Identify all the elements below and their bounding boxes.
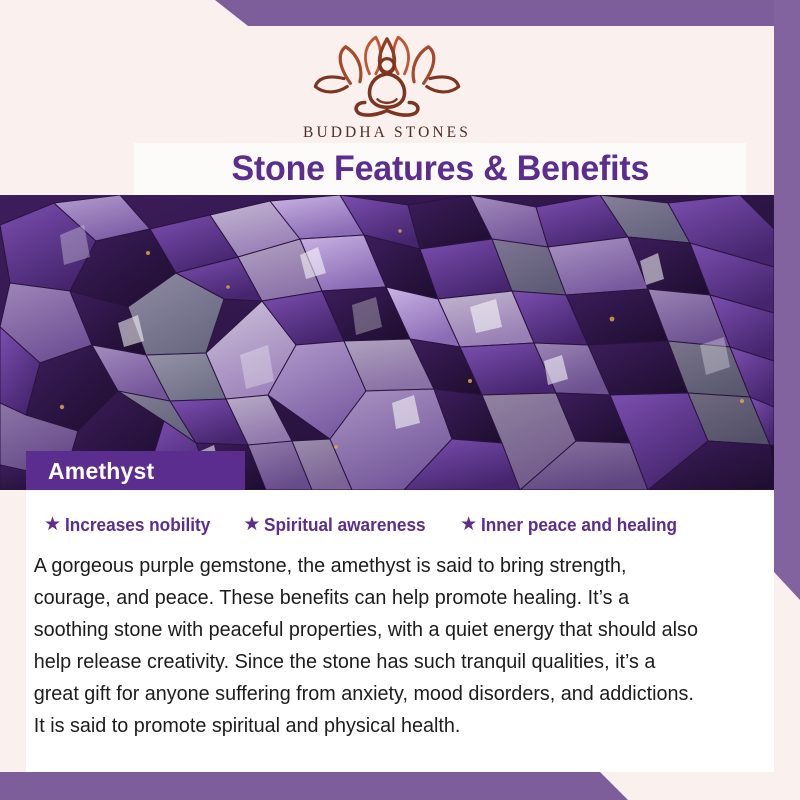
stone-name: Amethyst <box>48 458 154 485</box>
feature-item: ★ Spiritual awareness <box>243 514 438 536</box>
frame-band-top <box>0 0 800 26</box>
feature-label: Inner peace and healing <box>481 514 677 536</box>
frame-band-right <box>774 0 800 600</box>
stone-name-banner: Amethyst <box>26 451 245 491</box>
lotus-meditation-figure-icon <box>307 34 467 120</box>
star-icon: ★ <box>243 515 260 534</box>
feature-label: Increases nobility <box>65 514 210 536</box>
amethyst-crystal-cluster-photo <box>0 195 774 490</box>
product-infographic: BUDDHA STONES Stone Features & Benefits <box>0 0 800 800</box>
star-icon: ★ <box>44 515 61 534</box>
stone-details-card: ★ Increases nobility ★ Spiritual awarene… <box>26 490 774 772</box>
title-banner: Stone Features & Benefits <box>134 143 746 195</box>
feature-list: ★ Increases nobility ★ Spiritual awarene… <box>26 490 774 542</box>
brand-name: BUDDHA STONES <box>303 124 471 142</box>
feature-item: ★ Increases nobility <box>44 514 221 536</box>
page-title: Stone Features & Benefits <box>231 149 649 189</box>
feature-label: Spiritual awareness <box>264 514 426 536</box>
stone-description: A gorgeous purple gemstone, the amethyst… <box>26 542 748 742</box>
star-icon: ★ <box>460 515 477 534</box>
page-surface: BUDDHA STONES Stone Features & Benefits <box>0 26 774 772</box>
feature-item: ★ Inner peace and healing <box>460 514 692 536</box>
frame-band-bottom <box>0 772 800 800</box>
